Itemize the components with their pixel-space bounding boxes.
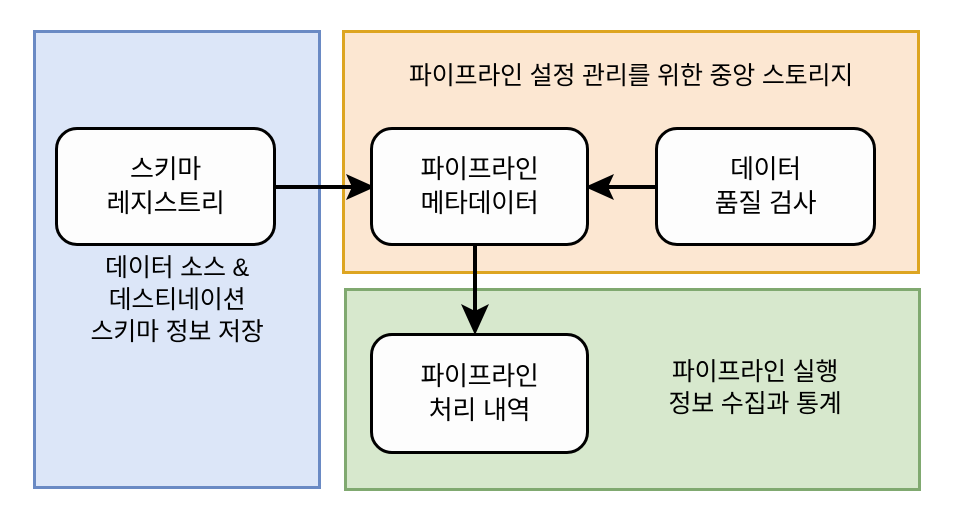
group-caption-schema-registry: 데이터 소스 & 데스티네이션 스키마 정보 저장 xyxy=(33,252,321,348)
node-pipeline-history-label: 파이프라인 처리 내역 xyxy=(420,360,538,428)
node-pipeline-history[interactable]: 파이프라인 처리 내역 xyxy=(370,333,589,454)
group-caption-central-storage: 파이프라인 설정 관리를 위한 중앙 스토리지 xyxy=(342,60,920,92)
connector-schema-to-metadata-icon xyxy=(270,160,380,215)
group-caption-execution-stats: 파이프라인 실행 정보 수집과 통계 xyxy=(600,356,910,420)
diagram-canvas: 파이프라인 설정 관리를 위한 중앙 스토리지 파이프라인 실행 정보 수집과 … xyxy=(0,0,956,520)
node-schema-registry[interactable]: 스키마 레지스트리 xyxy=(55,127,276,246)
node-pipeline-metadata-label: 파이프라인 메타데이터 xyxy=(420,153,538,221)
node-data-quality-check-label: 데이터 품질 검사 xyxy=(715,153,816,221)
node-pipeline-metadata[interactable]: 파이프라인 메타데이터 xyxy=(370,127,589,246)
node-data-quality-check[interactable]: 데이터 품질 검사 xyxy=(655,127,876,246)
node-schema-registry-label: 스키마 레지스트리 xyxy=(106,153,224,221)
connector-metadata-to-history-icon xyxy=(440,240,510,340)
